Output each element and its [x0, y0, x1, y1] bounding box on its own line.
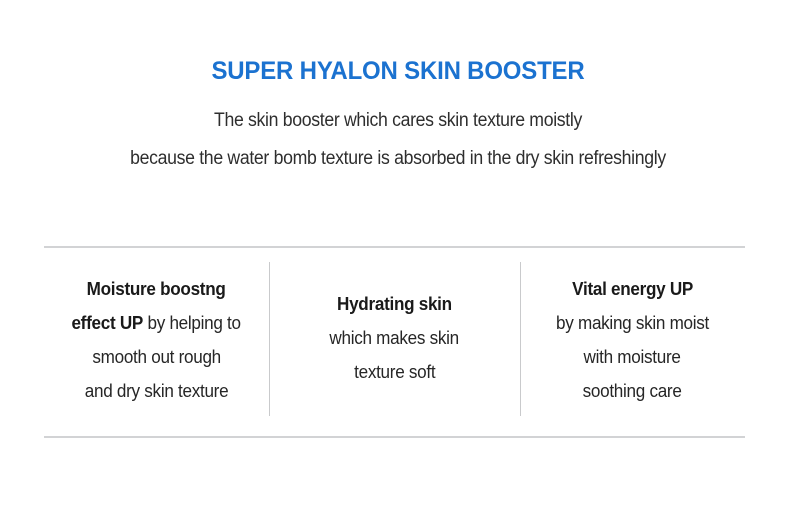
benefit-column-moisture-boosting: Moisture boostng effect UP by helping to…	[44, 262, 269, 420]
benefit-line: which makes skin	[330, 321, 459, 355]
benefit-line-normal: smooth out rough	[92, 347, 221, 367]
benefit-line-bold: Moisture boostng	[87, 279, 226, 299]
benefit-line-normal: by making skin moist	[556, 313, 709, 333]
benefit-line: Hydrating skin	[337, 287, 452, 321]
benefit-line: Vital energy UP	[572, 272, 693, 306]
benefits-row: Moisture boostng effect UP by helping to…	[44, 262, 745, 420]
benefit-line-bold: Hydrating skin	[337, 294, 452, 314]
benefit-column-hydrating-skin: Hydrating skin which makes skin texture …	[269, 262, 520, 420]
benefit-line: texture soft	[354, 355, 435, 389]
benefit-line: with moisture	[584, 340, 681, 374]
benefit-column-vital-energy: Vital energy UP by making skin moist wit…	[520, 262, 745, 420]
benefit-line: smooth out rough	[92, 340, 221, 374]
benefit-line-bold: Vital energy UP	[572, 279, 693, 299]
benefit-line: soothing care	[583, 374, 682, 408]
benefit-line-normal: texture soft	[354, 362, 435, 382]
divider-top	[44, 246, 745, 248]
benefit-line-normal: soothing care	[583, 381, 682, 401]
benefit-line: Moisture boostng	[87, 272, 226, 306]
benefit-line: by making skin moist	[556, 306, 709, 340]
product-benefits-panel: SUPER HYALON SKIN BOOSTER The skin boost…	[0, 0, 796, 521]
benefit-line-normal: and dry skin texture	[85, 381, 229, 401]
benefit-line: effect UP by helping to	[72, 306, 241, 340]
benefit-line-bold: effect UP	[72, 313, 144, 333]
header-block: SUPER HYALON SKIN BOOSTER The skin boost…	[0, 0, 796, 178]
benefit-line-normal: by helping to	[143, 313, 241, 333]
subtitle-line-1: The skin booster which cares skin textur…	[28, 102, 768, 140]
subtitle-block: The skin booster which cares skin textur…	[0, 86, 796, 178]
benefit-line: and dry skin texture	[85, 374, 229, 408]
benefit-line-normal: which makes skin	[330, 328, 459, 348]
divider-bottom	[44, 436, 745, 438]
subtitle-line-2: because the water bomb texture is absorb…	[28, 140, 768, 178]
page-title: SUPER HYALON SKIN BOOSTER	[16, 0, 780, 86]
benefit-line-normal: with moisture	[584, 347, 681, 367]
